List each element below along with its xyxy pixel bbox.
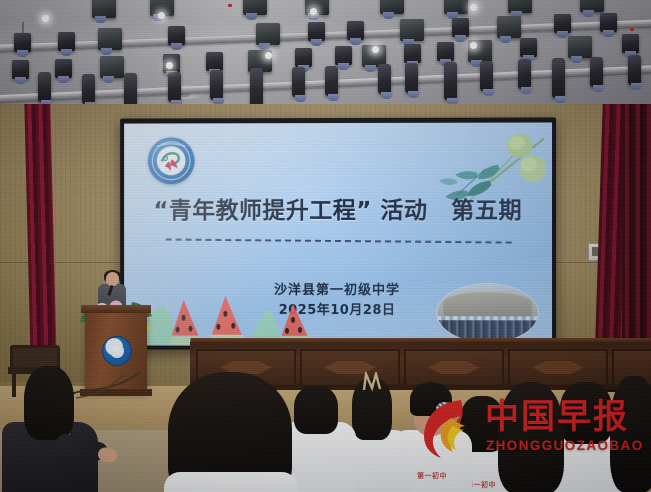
- chair-cover-text: 第一初中: [417, 471, 447, 481]
- stage-spotlight: [404, 44, 421, 63]
- watermark-pinyin: ZHONGGUOZAOBAO: [486, 438, 644, 453]
- stage-spotlight: [82, 74, 95, 104]
- stage-spotlight: [600, 13, 617, 32]
- stage-spotlight: [38, 72, 51, 102]
- stage-spotlight: [92, 0, 116, 18]
- attendant-hair: [24, 366, 74, 440]
- stage-spotlight: [378, 64, 391, 94]
- white-led-indicator: [158, 12, 165, 19]
- screen-pixel-grain: [124, 122, 552, 346]
- white-led-indicator: [310, 8, 317, 15]
- stage-spotlight: [400, 19, 424, 41]
- stage-spotlight: [168, 26, 185, 45]
- stage-spotlight: [250, 68, 263, 108]
- stage-spotlight: [554, 14, 571, 33]
- stage-spotlight: [206, 52, 223, 71]
- presenter-head: [106, 272, 119, 286]
- stage-spotlight: [12, 60, 29, 79]
- stage-spotlight: [628, 55, 641, 85]
- stage-spotlight: [520, 38, 537, 57]
- standing-attendant: [0, 370, 114, 492]
- watermark: 中国早报 ZHONGGUOZAOBAO: [413, 392, 645, 466]
- stage-spotlight: [497, 16, 521, 38]
- balustrade-rail: [190, 338, 651, 344]
- stage-spotlight: [568, 36, 592, 58]
- stage-spotlight: [480, 61, 493, 91]
- stage-spotlight: [405, 63, 418, 93]
- stage-spotlight: [98, 28, 122, 50]
- stage-spotlight: [325, 66, 338, 96]
- stage-spotlight: [622, 34, 639, 53]
- balustrade-panel: [404, 349, 504, 387]
- stage-spotlight: [305, 0, 329, 15]
- stage-spotlight: [518, 59, 531, 89]
- stage-spotlight: [335, 46, 352, 65]
- stage-spotlight: [55, 59, 72, 78]
- flame-logo-icon: [417, 396, 481, 460]
- attendee-hair: [294, 386, 338, 434]
- chair-cover: [164, 472, 298, 492]
- stage-spotlight: [292, 67, 305, 97]
- stage-spotlight: [347, 21, 364, 40]
- stage-spotlight: [256, 23, 280, 45]
- stage-spotlight: [168, 72, 181, 102]
- panel-diamond-motif: [532, 361, 584, 374]
- podium-top: [81, 305, 151, 313]
- stage-spotlight: [437, 42, 454, 61]
- watermark-chinese: 中国早报: [485, 398, 629, 436]
- indicator-light-icon: [630, 28, 634, 31]
- stage-spotlight: [580, 0, 604, 12]
- stage-spotlight: [452, 18, 469, 37]
- crest-inner: [110, 344, 124, 358]
- stage-spotlight: [243, 0, 267, 15]
- white-led-indicator: [470, 42, 477, 49]
- stage-spotlight: [380, 0, 404, 14]
- indicator-light-icon: [228, 4, 232, 7]
- stage-spotlight: [590, 57, 603, 87]
- stage-spotlight: [295, 48, 312, 67]
- white-led-indicator: [470, 4, 477, 11]
- slide-surface: “青年教师提升工程” 活动 第五期 沙洋县第一初级中学 2025年10月28日: [124, 122, 552, 346]
- stage-spotlight: [444, 0, 468, 14]
- stage-spotlight: [552, 58, 565, 98]
- led-presentation-screen[interactable]: “青年教师提升工程” 活动 第五期 沙洋县第一初级中学 2025年10月28日: [120, 117, 556, 350]
- white-led-indicator: [42, 15, 49, 22]
- screenshot-scene: “青年教师提升工程” 活动 第五期 沙洋县第一初级中学 2025年10月28日: [0, 0, 651, 492]
- stage-spotlight: [100, 56, 124, 78]
- stage-spotlight: [308, 22, 325, 41]
- stage-spotlight: [58, 32, 75, 51]
- panel-diamond-motif: [428, 361, 480, 374]
- white-led-indicator: [265, 52, 272, 59]
- school-crest-icon: [102, 336, 132, 366]
- hair-clip-icon: [360, 372, 386, 392]
- stage-spotlight: [14, 33, 31, 52]
- white-led-indicator: [372, 46, 379, 53]
- stage-spotlight: [508, 0, 532, 13]
- stage-spotlight: [210, 70, 223, 100]
- stage-spotlight: [444, 62, 457, 100]
- white-led-indicator: [166, 62, 173, 69]
